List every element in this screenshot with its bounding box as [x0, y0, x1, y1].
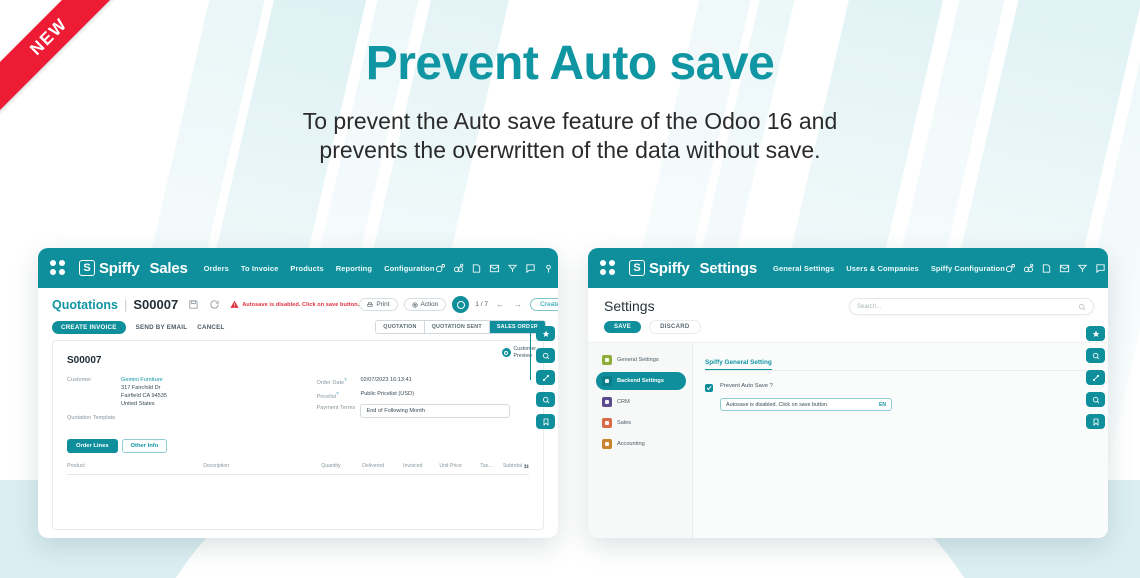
warning-triangle-icon: [230, 300, 239, 309]
sales-quotation-window: S Spiffy Sales Orders To Invoice Product…: [38, 248, 558, 538]
mail-icon[interactable]: [1059, 263, 1070, 274]
settings-actions: SAVE DISCARD: [588, 315, 1108, 334]
general-settings-icon: [602, 355, 612, 365]
bookmark-icon: [1092, 418, 1100, 426]
status-quotation[interactable]: QUOTATION: [376, 321, 424, 333]
search-icon: [542, 352, 550, 360]
autosave-message-input[interactable]: Autosave is disabled. Click on save butt…: [720, 398, 892, 411]
customer-address-line2: Fairfield CA 94535: [121, 392, 167, 400]
nav-item-products[interactable]: Products: [290, 264, 323, 273]
expand-icon: [542, 374, 550, 382]
new-ribbon-label: NEW: [26, 14, 71, 59]
section-tab-spiffy-general-setting[interactable]: Spiffy General Setting: [705, 359, 772, 370]
col-invoiced: Invoiced: [403, 463, 439, 469]
sales-icon: [602, 418, 612, 428]
prevent-auto-save-checkbox[interactable]: [705, 384, 713, 392]
discard-icon[interactable]: [209, 299, 220, 310]
hero-subtitle-line1: To prevent the Auto save feature of the …: [0, 107, 1140, 136]
rail-bookmark-button[interactable]: [536, 414, 555, 429]
app-name: Settings: [699, 260, 757, 277]
brand-name: Spiffy: [649, 260, 689, 277]
col-tax: Tax...: [480, 463, 503, 469]
breadcrumb-record: S00007: [133, 297, 178, 312]
record-sheet: S00007 Customer Gemini Furniture 317 Fai…: [52, 340, 544, 530]
refresh-circle-icon[interactable]: [452, 296, 469, 313]
col-description: Description: [203, 463, 321, 469]
location-icon[interactable]: [543, 263, 554, 274]
quotation-template-label: Quotation Template: [67, 414, 115, 421]
customer-preview-line2: Preview: [514, 353, 537, 360]
search-box[interactable]: Search...: [849, 298, 1094, 315]
star-icon: [542, 330, 550, 338]
status-quotation-sent[interactable]: QUOTATION SENT: [425, 321, 490, 333]
cancel-button[interactable]: CANCEL: [197, 324, 224, 331]
brand-name: Spiffy: [99, 260, 139, 277]
nav-item-orders[interactable]: Orders: [204, 264, 229, 273]
left-side-rail: [536, 326, 555, 429]
rail-search-button[interactable]: [1086, 348, 1105, 363]
pricelist-value[interactable]: Public Pricelist (USD): [360, 390, 413, 400]
print-button[interactable]: Print: [359, 298, 397, 311]
activities-icon[interactable]: [1023, 263, 1034, 274]
zoom-icon: [542, 396, 550, 404]
nav-item-users-companies[interactable]: Users & Companies: [846, 264, 919, 273]
gear-icon: [412, 302, 418, 308]
pricelist-label: Pricelist?: [316, 390, 360, 400]
sidebar-item-sales[interactable]: Sales: [596, 414, 686, 432]
chat-icon[interactable]: [525, 263, 536, 274]
sidebar-item-accounting[interactable]: Accounting: [596, 435, 686, 453]
spiffy-logo-icon: S: [629, 260, 645, 276]
settings-main-panel: Spiffy General Setting Prevent Auto Save…: [693, 343, 1108, 538]
customer-preview-icon: [502, 348, 511, 357]
record-sheet-wrap: Customer Preview S00007 Customer Gemini …: [52, 340, 544, 530]
messages-icon[interactable]: [1005, 263, 1016, 274]
discard-button[interactable]: DISCARD: [649, 320, 700, 334]
autosave-warning-text: Autosave is disabled. Click on save butt…: [242, 302, 359, 308]
rail-zoom-button[interactable]: [536, 392, 555, 407]
rail-star-button[interactable]: [1086, 326, 1105, 341]
left-navbar: S Spiffy Sales Orders To Invoice Product…: [38, 248, 558, 288]
megaphone-icon[interactable]: [1077, 263, 1088, 274]
search-icon: [1092, 352, 1100, 360]
breadcrumb: Quotations | S00007: [52, 297, 220, 312]
megaphone-icon[interactable]: [507, 263, 518, 274]
settings-window: S Spiffy Settings General Settings Users…: [588, 248, 1108, 538]
payment-terms-input[interactable]: End of Following Month: [360, 404, 510, 418]
search-input[interactable]: Search...: [857, 304, 1078, 310]
settings-page-title: Settings: [604, 298, 655, 314]
hero-subtitle-line2: prevents the overwritten of the data wit…: [0, 136, 1140, 165]
print-label: Print: [376, 301, 389, 308]
action-label: Action: [421, 301, 439, 308]
search-icon[interactable]: [1078, 303, 1086, 311]
save-button[interactable]: SAVE: [604, 321, 641, 333]
sidebar-label-accounting: Accounting: [617, 441, 645, 447]
tab-order-lines[interactable]: Order Lines: [67, 439, 118, 453]
brand-logo[interactable]: S Spiffy: [79, 260, 139, 277]
sidebar-label-sales: Sales: [617, 420, 631, 426]
check-icon: [706, 385, 712, 391]
nav-item-configuration[interactable]: Configuration: [384, 264, 434, 273]
rail-bookmark-button[interactable]: [1086, 414, 1105, 429]
messages-icon[interactable]: [435, 263, 446, 274]
zoom-icon: [1092, 396, 1100, 404]
settings-top-bar: Settings Search...: [588, 288, 1108, 315]
hero-section: Prevent Auto save To prevent the Auto sa…: [0, 38, 1140, 166]
left-navbar-icons: [435, 259, 558, 278]
pager-count: 1 / 7: [475, 301, 488, 308]
print-icon[interactable]: [471, 263, 482, 274]
order-date-label: Order Date?: [316, 376, 360, 386]
autosave-message-value: Autosave is disabled. Click on save butt…: [726, 402, 879, 408]
payment-terms-label: Payment Terms: [316, 404, 360, 411]
autosave-warning: Autosave is disabled. Click on save butt…: [230, 300, 359, 309]
prevent-auto-save-label: Prevent Auto Save ?: [720, 383, 773, 389]
col-quantity: Quantity: [321, 463, 362, 469]
apps-grid-icon[interactable]: [600, 260, 615, 276]
nav-item-general-settings[interactable]: General Settings: [773, 264, 834, 273]
prevent-auto-save-setting: Prevent Auto Save ?: [705, 383, 1094, 392]
save-icon[interactable]: [188, 299, 199, 310]
pager-prev-button[interactable]: ←: [494, 300, 506, 309]
settings-body: General Settings Backend Settings CRM Sa…: [588, 342, 1108, 538]
pager-next-button[interactable]: →: [512, 300, 524, 309]
col-product: Product: [67, 463, 203, 469]
rail-expand-button[interactable]: [1086, 370, 1105, 385]
language-badge[interactable]: EN: [879, 402, 886, 408]
new-ribbon: NEW: [0, 0, 128, 128]
action-button[interactable]: Action: [404, 298, 447, 311]
mail-icon[interactable]: [489, 263, 500, 274]
record-form: Customer Gemini Furniture 317 Fairchild …: [67, 376, 529, 425]
control-bar: Quotations | S00007 Autosave is disabled…: [38, 288, 558, 313]
sidebar-label-crm: CRM: [617, 399, 630, 405]
expand-icon: [1092, 374, 1100, 382]
sidebar-item-backend-settings[interactable]: Backend Settings: [596, 372, 686, 390]
create-button[interactable]: Create: [530, 298, 558, 311]
right-side-rail: [1086, 326, 1105, 429]
customer-preview-line1: Customer: [514, 346, 537, 353]
col-delivered: Delivered: [362, 463, 403, 469]
nav-item-spiffy-configuration[interactable]: Spiffy Configuration: [931, 264, 1005, 273]
backend-settings-icon: [602, 376, 612, 386]
column-settings-icon[interactable]: [524, 464, 529, 469]
bookmark-icon: [542, 418, 550, 426]
record-tabs: Order Lines Other Info: [67, 439, 529, 453]
right-navbar: S Spiffy Settings General Settings Users…: [588, 248, 1108, 288]
app-name: Sales: [149, 260, 187, 277]
print-icon: [367, 302, 373, 308]
apps-grid-icon[interactable]: [50, 260, 65, 276]
customer-label: Customer: [67, 376, 121, 408]
col-unit-price: Unit Price: [439, 463, 480, 469]
customer-address-line3: United States: [121, 400, 167, 408]
sidebar-item-general-settings[interactable]: General Settings: [596, 351, 686, 369]
section-divider: [705, 370, 1094, 371]
form-column-right: Order Date? 02/07/2023 16:13:41 Pricelis…: [316, 376, 529, 425]
sidebar-item-crm[interactable]: CRM: [596, 393, 686, 411]
sidebar-label-backend-settings: Backend Settings: [617, 378, 664, 384]
spiffy-logo-icon: S: [79, 260, 95, 276]
rail-accent-line: [530, 320, 532, 380]
customer-address-line1: 317 Fairchild Dr: [121, 384, 167, 392]
order-lines-table-body: [67, 475, 529, 519]
send-by-email-button[interactable]: SEND BY EMAIL: [136, 324, 188, 331]
record-title: S00007: [67, 355, 529, 366]
breadcrumb-separator: |: [124, 297, 127, 312]
nav-item-to-invoice[interactable]: To Invoice: [241, 264, 279, 273]
rail-zoom-button[interactable]: [1086, 392, 1105, 407]
tab-other-info[interactable]: Other Info: [122, 439, 168, 453]
control-bar-right: Print Action 1 / 7 ← → Create: [359, 296, 558, 313]
status-badge-group: QUOTATION QUOTATION SENT SALES ORDER: [375, 320, 546, 334]
chat-icon[interactable]: [1095, 263, 1106, 274]
page-title: Prevent Auto save: [0, 38, 1140, 91]
accounting-icon: [602, 439, 612, 449]
right-nav-menu: General Settings Users & Companies Spiff…: [773, 264, 1005, 273]
create-invoice-button[interactable]: CREATE INVOICE: [52, 321, 126, 334]
activities-icon[interactable]: [453, 263, 464, 274]
left-nav-menu: Orders To Invoice Products Reporting Con…: [204, 264, 435, 273]
rail-expand-button[interactable]: [536, 370, 555, 385]
customer-name[interactable]: Gemini Furniture: [121, 376, 167, 384]
form-column-left: Customer Gemini Furniture 317 Fairchild …: [67, 376, 316, 425]
rail-search-button[interactable]: [536, 348, 555, 363]
crm-icon: [602, 397, 612, 407]
settings-sidebar: General Settings Backend Settings CRM Sa…: [588, 343, 693, 538]
right-navbar-icons: [1005, 259, 1108, 278]
order-lines-table-header: Product Description Quantity Delivered I…: [67, 463, 529, 475]
action-status-bar: CREATE INVOICE SEND BY EMAIL CANCEL QUOT…: [38, 320, 558, 334]
rail-star-button[interactable]: [536, 326, 555, 341]
order-date-value: 02/07/2023 16:13:41: [360, 376, 411, 386]
sidebar-label-general-settings: General Settings: [617, 357, 659, 363]
print-icon[interactable]: [1041, 263, 1052, 274]
breadcrumb-root[interactable]: Quotations: [52, 298, 118, 312]
nav-item-reporting[interactable]: Reporting: [336, 264, 372, 273]
brand-logo[interactable]: S Spiffy: [629, 260, 689, 277]
star-icon: [1092, 330, 1100, 338]
col-subtotal: Subtotal: [503, 463, 522, 469]
